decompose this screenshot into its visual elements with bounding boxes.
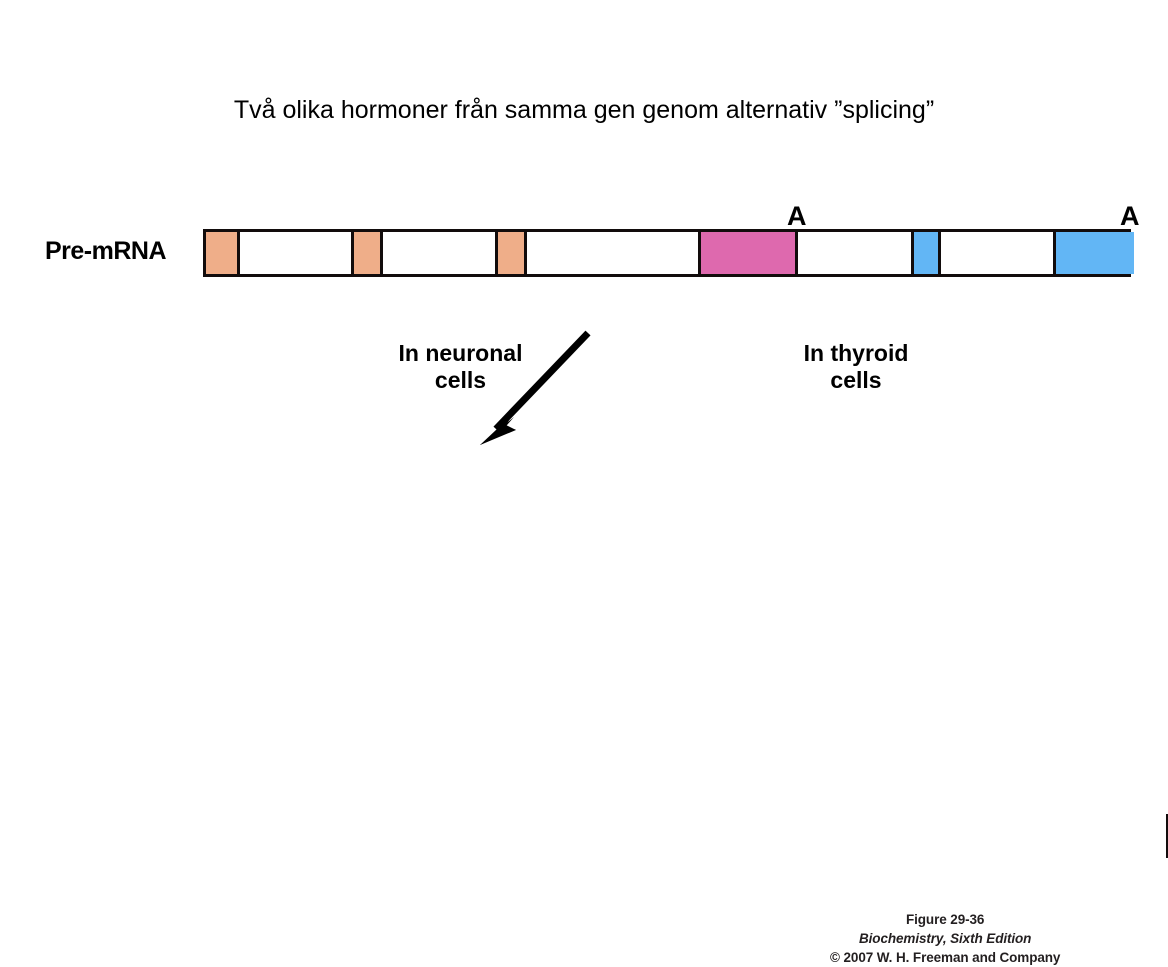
branch-label-thyroid-line1: In thyroid [785, 340, 927, 367]
branch-label-thyroid: In thyroid cells A CGRP A Calcitonin Fig… [785, 340, 927, 393]
figure-title: Två olika hormoner från samma gen genom … [0, 96, 1168, 125]
pre-mrna-bar [203, 229, 1131, 277]
segment-exon-3 [495, 232, 527, 274]
segment-exon-6-calcitonin [1053, 232, 1134, 274]
caption-copyright: © 2007 W. H. Freeman and Company [830, 948, 1060, 967]
pre-mrna-label: Pre-mRNA [45, 237, 166, 266]
arrow-neuronal [470, 325, 600, 450]
segment-intron-3 [527, 232, 698, 274]
segment-intron-2 [383, 232, 495, 274]
poly-a-marker-calcitonin-premrna: A [1120, 203, 1140, 230]
poly-a-marker-cgrp-premrna: A [787, 203, 807, 230]
figure-canvas: Två olika hormoner från samma gen genom … [0, 0, 1168, 740]
segment-exon-2 [351, 232, 383, 274]
segment-intron-5 [941, 232, 1053, 274]
segment-exon-1 [206, 232, 240, 274]
caption-figure-number: Figure 29-36 [830, 910, 1060, 929]
segment-exon-4-cgrp [698, 232, 798, 274]
caption-book-title: Biochemistry, Sixth Edition [830, 929, 1060, 948]
segment-intron-4 [798, 232, 911, 274]
segment-intron-1 [240, 232, 351, 274]
figure-caption: Figure 29-36 Biochemistry, Sixth Edition… [830, 910, 1060, 967]
branch-label-thyroid-line2: cells [785, 367, 927, 394]
segment-exon-5-calcitonin-small [911, 232, 941, 274]
